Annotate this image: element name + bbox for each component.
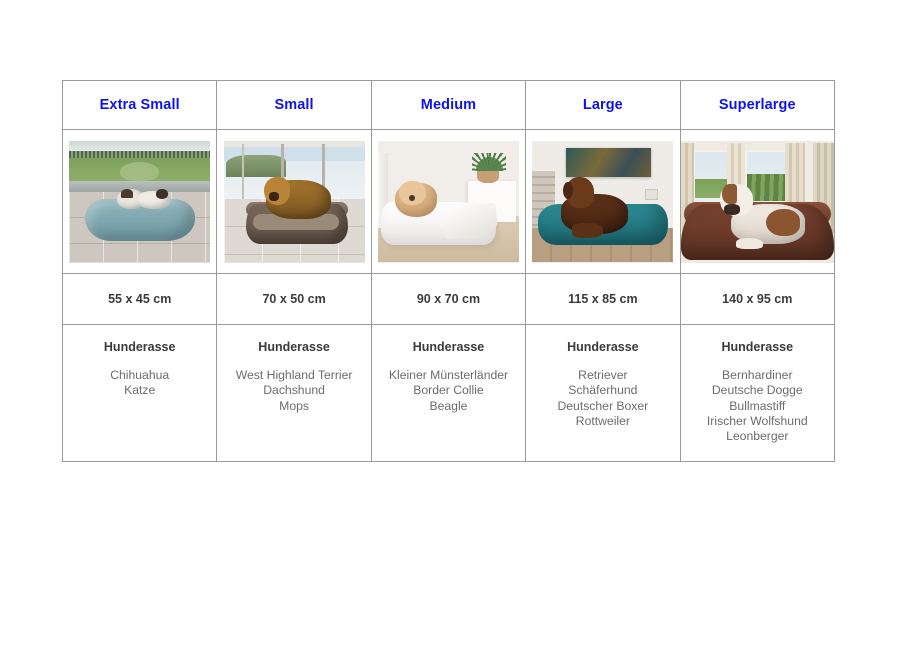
dimensions-cell-superlarge: 140 x 95 cm [680,274,834,325]
breeds-cell-superlarge: Hunderasse Bernhardiner Deutsche Dogge B… [680,325,834,462]
breed-item: Bullmastiff [681,399,834,414]
size-name-label: Small [217,98,370,113]
breed-item: Deutscher Boxer [526,399,679,414]
header-cell-small: Small [217,81,371,130]
breed-item: Schäferhund [526,383,679,398]
breed-list: Hunderasse Chihuahua Katze [63,325,216,399]
breeds-cell-large: Hunderasse Retriever Schäferhund Deutsch… [526,325,680,462]
photo-wrapper [63,130,216,273]
size-name-label: Superlarge [681,98,834,113]
breed-item: Katze [63,383,216,398]
size-name-label: Medium [372,98,525,113]
photo-cell-small [217,130,371,274]
document-page: Extra Small Small Medium Large Superlarg… [0,0,900,660]
product-photo-medium [378,141,519,263]
breed-list: Hunderasse Bernhardiner Deutsche Dogge B… [681,325,834,444]
dimensions-label: 140 x 95 cm [681,292,834,306]
header-cell-extra-small: Extra Small [63,81,217,130]
breed-item: Dachshund [217,383,370,398]
breed-item: Retriever [526,368,679,383]
photo-cell-superlarge [680,130,834,274]
breed-list: Hunderasse Kleiner Münsterländer Border … [372,325,525,414]
breed-list-title: Hunderasse [217,340,370,354]
photo-cell-medium [371,130,525,274]
table-dimensions-row: 55 x 45 cm 70 x 50 cm 90 x 70 cm 115 x 8… [63,274,835,325]
breed-item: Border Collie [372,383,525,398]
breed-list: Hunderasse West Highland Terrier Dachshu… [217,325,370,414]
breed-list-title: Hunderasse [63,340,216,354]
breed-item: Bernhardiner [681,368,834,383]
table-photo-row [63,130,835,274]
dog-bed-size-table: Extra Small Small Medium Large Superlarg… [62,80,835,462]
breed-item: West Highland Terrier [217,368,370,383]
photo-wrapper [681,130,834,273]
breed-list-title: Hunderasse [681,340,834,354]
breed-item: Chihuahua [63,368,216,383]
breeds-cell-small: Hunderasse West Highland Terrier Dachshu… [217,325,371,462]
photo-cell-large [526,130,680,274]
breed-item: Irischer Wolfshund [681,414,834,429]
dimensions-label: 55 x 45 cm [63,292,216,306]
dimensions-label: 90 x 70 cm [372,292,525,306]
dimensions-cell-small: 70 x 50 cm [217,274,371,325]
product-photo-superlarge [681,141,834,263]
product-photo-extra-small [69,141,210,263]
photo-wrapper [217,130,370,273]
photo-wrapper [526,130,679,273]
breed-list-title: Hunderasse [372,340,525,354]
breed-item: Kleiner Münsterländer [372,368,525,383]
header-cell-medium: Medium [371,81,525,130]
breed-list-title: Hunderasse [526,340,679,354]
size-name-label: Large [526,98,679,113]
dimensions-label: 115 x 85 cm [526,292,679,306]
dimensions-cell-extra-small: 55 x 45 cm [63,274,217,325]
breed-item: Deutsche Dogge [681,383,834,398]
size-name-label: Extra Small [63,98,216,113]
header-cell-large: Large [526,81,680,130]
dimensions-label: 70 x 50 cm [217,292,370,306]
breeds-cell-extra-small: Hunderasse Chihuahua Katze [63,325,217,462]
breed-list: Hunderasse Retriever Schäferhund Deutsch… [526,325,679,429]
breed-item: Beagle [372,399,525,414]
table-header-row: Extra Small Small Medium Large Superlarg… [63,81,835,130]
header-cell-superlarge: Superlarge [680,81,834,130]
photo-cell-extra-small [63,130,217,274]
product-photo-small [224,141,365,263]
breed-item: Rottweiler [526,414,679,429]
photo-wrapper [372,130,525,273]
breed-item: Leonberger [681,429,834,444]
table-breeds-row: Hunderasse Chihuahua Katze Hunderasse We… [63,325,835,462]
breed-item: Mops [217,399,370,414]
product-photo-large [532,141,673,263]
dimensions-cell-large: 115 x 85 cm [526,274,680,325]
dimensions-cell-medium: 90 x 70 cm [371,274,525,325]
breeds-cell-medium: Hunderasse Kleiner Münsterländer Border … [371,325,525,462]
